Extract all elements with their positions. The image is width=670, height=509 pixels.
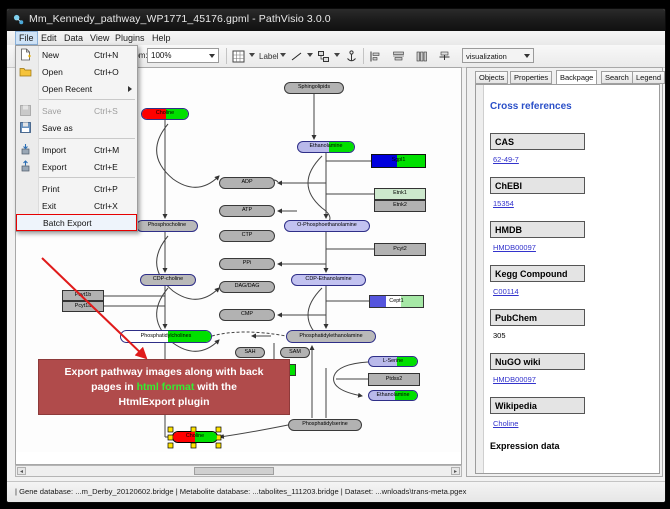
menu-item-label: Batch Export xyxy=(43,218,92,228)
menu-item-print[interactable]: Print Ctrl+P xyxy=(16,180,137,197)
gene-label: Pcyt2 xyxy=(393,247,406,252)
menu-view[interactable]: View xyxy=(87,32,112,44)
label-icon-text: Label xyxy=(259,52,279,61)
menu-item-open[interactable]: Open Ctrl+O xyxy=(16,63,137,80)
tab-properties[interactable]: Properties xyxy=(510,71,552,84)
gene-label: Ptdss2 xyxy=(386,377,402,382)
metabolite-node-l-serine[interactable]: L-Serine xyxy=(368,356,418,367)
xref-label-nugo: NuGO wiki xyxy=(490,353,585,370)
gene-node-etnk2[interactable]: Etnk2 xyxy=(374,200,426,212)
menu-item-label: Print xyxy=(42,184,59,194)
menu-item-open-recent[interactable]: Open Recent xyxy=(16,80,137,97)
new-file-icon xyxy=(19,48,32,61)
metabolite-label: ADP xyxy=(241,180,252,185)
menu-file[interactable]: File xyxy=(15,31,38,45)
side-panel-scrollbar[interactable] xyxy=(476,85,484,473)
scroll-right-arrow-icon[interactable]: ▸ xyxy=(451,467,460,475)
xref-value-hmdb[interactable]: HMDB00097 xyxy=(493,243,536,252)
menu-item-new[interactable]: New Ctrl+N xyxy=(16,46,137,63)
toolbar-separator-3 xyxy=(363,48,364,64)
menu-item-shortcut: Ctrl+X xyxy=(94,201,118,211)
line-icon[interactable] xyxy=(290,49,303,63)
menu-item-export[interactable]: Export Ctrl+E xyxy=(16,158,137,175)
chevron-down-icon xyxy=(209,54,215,58)
export-icon xyxy=(19,160,32,173)
annotation-line-1: Export pathway images along with back xyxy=(65,366,264,378)
label-dropdown-arrow[interactable] xyxy=(280,53,286,57)
menu-plugins[interactable]: Plugins xyxy=(112,32,148,44)
gene-label: Etnk1 xyxy=(393,191,407,196)
align-columns-icon[interactable] xyxy=(415,49,428,63)
metabolite-label: PPi xyxy=(243,261,251,266)
menu-item-shortcut: Ctrl+P xyxy=(94,184,118,194)
xref-label-pubchem: PubChem xyxy=(490,309,585,326)
xref-label-text: HMDB xyxy=(491,225,522,235)
shape-dropdown-arrow[interactable] xyxy=(334,53,340,57)
import-icon xyxy=(19,143,32,156)
menu-item-label: Exit xyxy=(42,201,56,211)
menu-item-label: Open Recent xyxy=(42,84,92,94)
xref-label-kegg: Kegg Compound xyxy=(490,265,585,282)
metabolite-node-dag[interactable]: DAG/DAG xyxy=(219,281,275,293)
tab-legend[interactable]: Legend xyxy=(632,71,665,84)
xref-value-cas[interactable]: 62-49-7 xyxy=(493,155,519,164)
zoom-value: 100% xyxy=(151,51,171,60)
grid-dropdown-arrow[interactable] xyxy=(249,53,255,57)
metabolite-node-sah[interactable]: SAH xyxy=(235,347,265,358)
xref-label-cas: CAS xyxy=(490,133,585,150)
metabolite-label: ATP xyxy=(242,208,252,213)
annotation-line-2-post: with the xyxy=(194,381,237,393)
expression-data-heading: Expression data xyxy=(490,441,560,451)
metabolite-label: Sphingolipids xyxy=(298,85,330,90)
xref-value-pubchem: 305 xyxy=(493,331,506,340)
metabolite-node-phosphatidylethanolamine[interactable]: Phosphatidylethanolamine xyxy=(286,330,376,343)
menu-item-label: New xyxy=(42,50,59,60)
chevron-down-icon-2 xyxy=(524,54,530,58)
align-left-icon[interactable] xyxy=(369,49,382,63)
xref-label-text: ChEBI xyxy=(491,181,522,191)
annotation-banner: Export pathway images along with back pa… xyxy=(38,359,290,415)
xref-label-text: Wikipedia xyxy=(491,401,537,411)
metabolite-node-cdp-ethanolamine[interactable]: CDP-Ethanolamine xyxy=(291,274,366,286)
metabolite-node-phosphatidylserine[interactable]: Phosphatidylserine xyxy=(288,419,362,431)
menu-item-label: Save as xyxy=(42,123,73,133)
line-dropdown-arrow[interactable] xyxy=(307,53,313,57)
menu-item-shortcut: Ctrl+M xyxy=(94,145,119,155)
metabolite-label: Phosphatidylserine xyxy=(302,422,348,427)
menu-edit[interactable]: Edit xyxy=(38,32,60,44)
metabolite-label: Choline xyxy=(186,434,204,439)
save-as-icon xyxy=(19,121,32,134)
label-icon[interactable]: Label xyxy=(259,49,279,63)
gene-label: Etnk2 xyxy=(393,203,407,208)
menu-item-shortcut: Ctrl+O xyxy=(94,67,119,77)
application-window: Mm_Kennedy_pathway_WP1771_45176.gpml - P… xyxy=(6,8,666,503)
metabolite-label: Ethanolamine xyxy=(310,144,343,149)
metabolite-label: CDP-Ethanolamine xyxy=(305,277,351,282)
metabolite-node-cmp[interactable]: CMP xyxy=(219,309,275,321)
toolbar-separator-2 xyxy=(226,48,227,64)
zoom-combobox[interactable]: 100% xyxy=(147,48,219,63)
xref-label-chebi: ChEBI xyxy=(490,177,585,194)
xref-label-wikipedia: Wikipedia xyxy=(490,397,585,414)
menu-item-shortcut: Ctrl+E xyxy=(94,162,118,172)
xref-label-text: Kegg Compound xyxy=(491,269,568,279)
folder-icon xyxy=(19,65,32,78)
metabolite-label: SAH xyxy=(244,350,255,355)
shape-icon[interactable] xyxy=(317,49,330,63)
metabolite-label: Ethanolamine xyxy=(377,393,410,398)
xref-value-kegg[interactable]: C00114 xyxy=(493,287,519,296)
annotation-text: Export pathway images along with back pa… xyxy=(59,365,270,410)
canvas-horizontal-scrollbar[interactable]: ◂ ▸ xyxy=(15,465,462,477)
menu-item-shortcut: Ctrl+S xyxy=(94,106,118,116)
metabolite-label: SAM xyxy=(289,350,301,355)
gene-node-cept1[interactable]: Cept1 xyxy=(369,295,424,308)
tab-objects[interactable]: Objects xyxy=(475,71,508,84)
menu-item-label: Save xyxy=(42,106,61,116)
xref-label-hmdb: HMDB xyxy=(490,221,585,238)
metabolite-node-sam[interactable]: SAM xyxy=(280,347,310,358)
menu-item-label: Export xyxy=(42,162,67,172)
screenshot-root: Mm_Kennedy_pathway_WP1771_45176.gpml - P… xyxy=(0,0,670,509)
metabolite-node-choline[interactable]: Choline xyxy=(141,108,189,120)
menu-help[interactable]: Help xyxy=(149,32,174,44)
gene-node-etnk1[interactable]: Etnk1 xyxy=(374,188,426,200)
annotation-line-2-pre: pages in xyxy=(91,381,137,393)
anchor-icon[interactable] xyxy=(345,49,358,63)
gene-label: Cept1 xyxy=(389,299,403,304)
menu-item-batch-export[interactable]: Batch Export xyxy=(16,214,137,231)
metabolite-label: CTP xyxy=(242,233,253,238)
xref-value-wikipedia[interactable]: Choline xyxy=(493,419,518,428)
metabolite-node-adp[interactable]: ADP xyxy=(219,177,275,189)
tab-search[interactable]: Search xyxy=(601,71,633,84)
metabolite-node-ethanolamine-2[interactable]: Ethanolamine xyxy=(368,390,418,401)
menu-data[interactable]: Data xyxy=(61,32,86,44)
metabolite-node-ethanolamine[interactable]: Ethanolamine xyxy=(297,141,355,153)
visualization-value: visualization xyxy=(466,52,507,61)
metabolite-node-ppi[interactable]: PPi xyxy=(219,258,275,270)
metabolite-label: Phosphatidylethanolamine xyxy=(299,334,362,339)
metabolite-node-sphingolipids[interactable]: Sphingolipids xyxy=(284,82,344,94)
visualization-combobox[interactable]: visualization xyxy=(462,48,534,63)
backpage-content: Cross references CAS 62-49-7 ChEBI 15354… xyxy=(475,84,660,474)
menu-item-exit[interactable]: Exit Ctrl+X xyxy=(16,197,137,214)
title-bar: Mm_Kennedy_pathway_WP1771_45176.gpml - P… xyxy=(7,9,665,32)
cross-references-heading: Cross references xyxy=(490,101,572,112)
metabolite-label: DAG/DAG xyxy=(235,284,260,289)
gene-node-sgpl1[interactable]: Sgpl1 xyxy=(371,154,426,168)
scroll-left-arrow-icon[interactable]: ◂ xyxy=(17,467,26,475)
metabolite-label: Phosphocholine xyxy=(148,223,186,228)
metabolite-node-o-phosphoethanolamine[interactable]: O-Phosphoethanolamine xyxy=(284,220,370,232)
status-text: | Gene database: ...m_Derby_20120602.bri… xyxy=(15,487,466,496)
side-panel: Objects Properties Backpage Search Legen… xyxy=(466,67,663,477)
menu-item-import[interactable]: Import Ctrl+M xyxy=(16,141,137,158)
file-menu-dropdown[interactable]: New Ctrl+N Open Ctrl+O Open Recent Save … xyxy=(15,45,138,232)
metabolite-node-phosphocholine[interactable]: Phosphocholine xyxy=(136,220,198,232)
menu-item-save-as[interactable]: Save as xyxy=(16,119,137,136)
menu-item-label: Import xyxy=(42,145,66,155)
cept1-right-fill xyxy=(401,296,423,307)
xref-label-text: PubChem xyxy=(491,313,537,323)
menu-item-shortcut: Ctrl+N xyxy=(94,50,118,60)
xref-label-text: NuGO wiki xyxy=(491,357,541,367)
metabolite-label: CMP xyxy=(241,312,253,317)
annotation-line-2-highlight: html format xyxy=(137,381,195,393)
callout-arrow-icon xyxy=(36,253,166,368)
gene-node-pcyt2[interactable]: Pcyt2 xyxy=(374,243,426,256)
metabolite-node-ctp[interactable]: CTP xyxy=(219,230,275,242)
grid-icon[interactable] xyxy=(232,49,245,63)
annotation-line-3: HtmlExport plugin xyxy=(119,396,210,408)
window-title: Mm_Kennedy_pathway_WP1771_45176.gpml - P… xyxy=(29,13,331,25)
status-bar: | Gene database: ...m_Derby_20120602.bri… xyxy=(7,481,665,502)
menu-bar: File Edit Data View Plugins Help xyxy=(7,31,665,46)
xref-label-text: CAS xyxy=(491,137,514,147)
tab-backpage[interactable]: Backpage xyxy=(556,70,597,85)
save-icon xyxy=(19,104,32,117)
side-panel-tabs: Objects Properties Backpage Search Legen… xyxy=(475,70,660,84)
stack-icon[interactable] xyxy=(438,49,451,63)
metabolite-node-atp[interactable]: ATP xyxy=(219,205,275,217)
align-distribute-icon[interactable] xyxy=(392,49,405,63)
metabolite-label: O-Phosphoethanolamine xyxy=(297,223,357,228)
menu-item-label: Open xyxy=(42,67,63,77)
submenu-arrow-icon xyxy=(128,86,132,92)
pathvisio-icon xyxy=(13,14,24,25)
gene-node-ptdss2[interactable]: Ptdss2 xyxy=(368,373,420,386)
scrollbar-thumb[interactable] xyxy=(194,467,274,475)
xref-value-chebi[interactable]: 15354 xyxy=(493,199,514,208)
cept1-left-fill xyxy=(370,296,386,307)
xref-value-nugo[interactable]: HMDB00097 xyxy=(493,375,536,384)
menu-item-save: Save Ctrl+S xyxy=(16,102,137,119)
metabolite-label: Choline xyxy=(156,111,174,116)
metabolite-label: L-Serine xyxy=(383,359,403,364)
metabolite-node-choline-selected[interactable]: Choline xyxy=(172,431,218,443)
gene-label: Sgpl1 xyxy=(392,158,406,163)
